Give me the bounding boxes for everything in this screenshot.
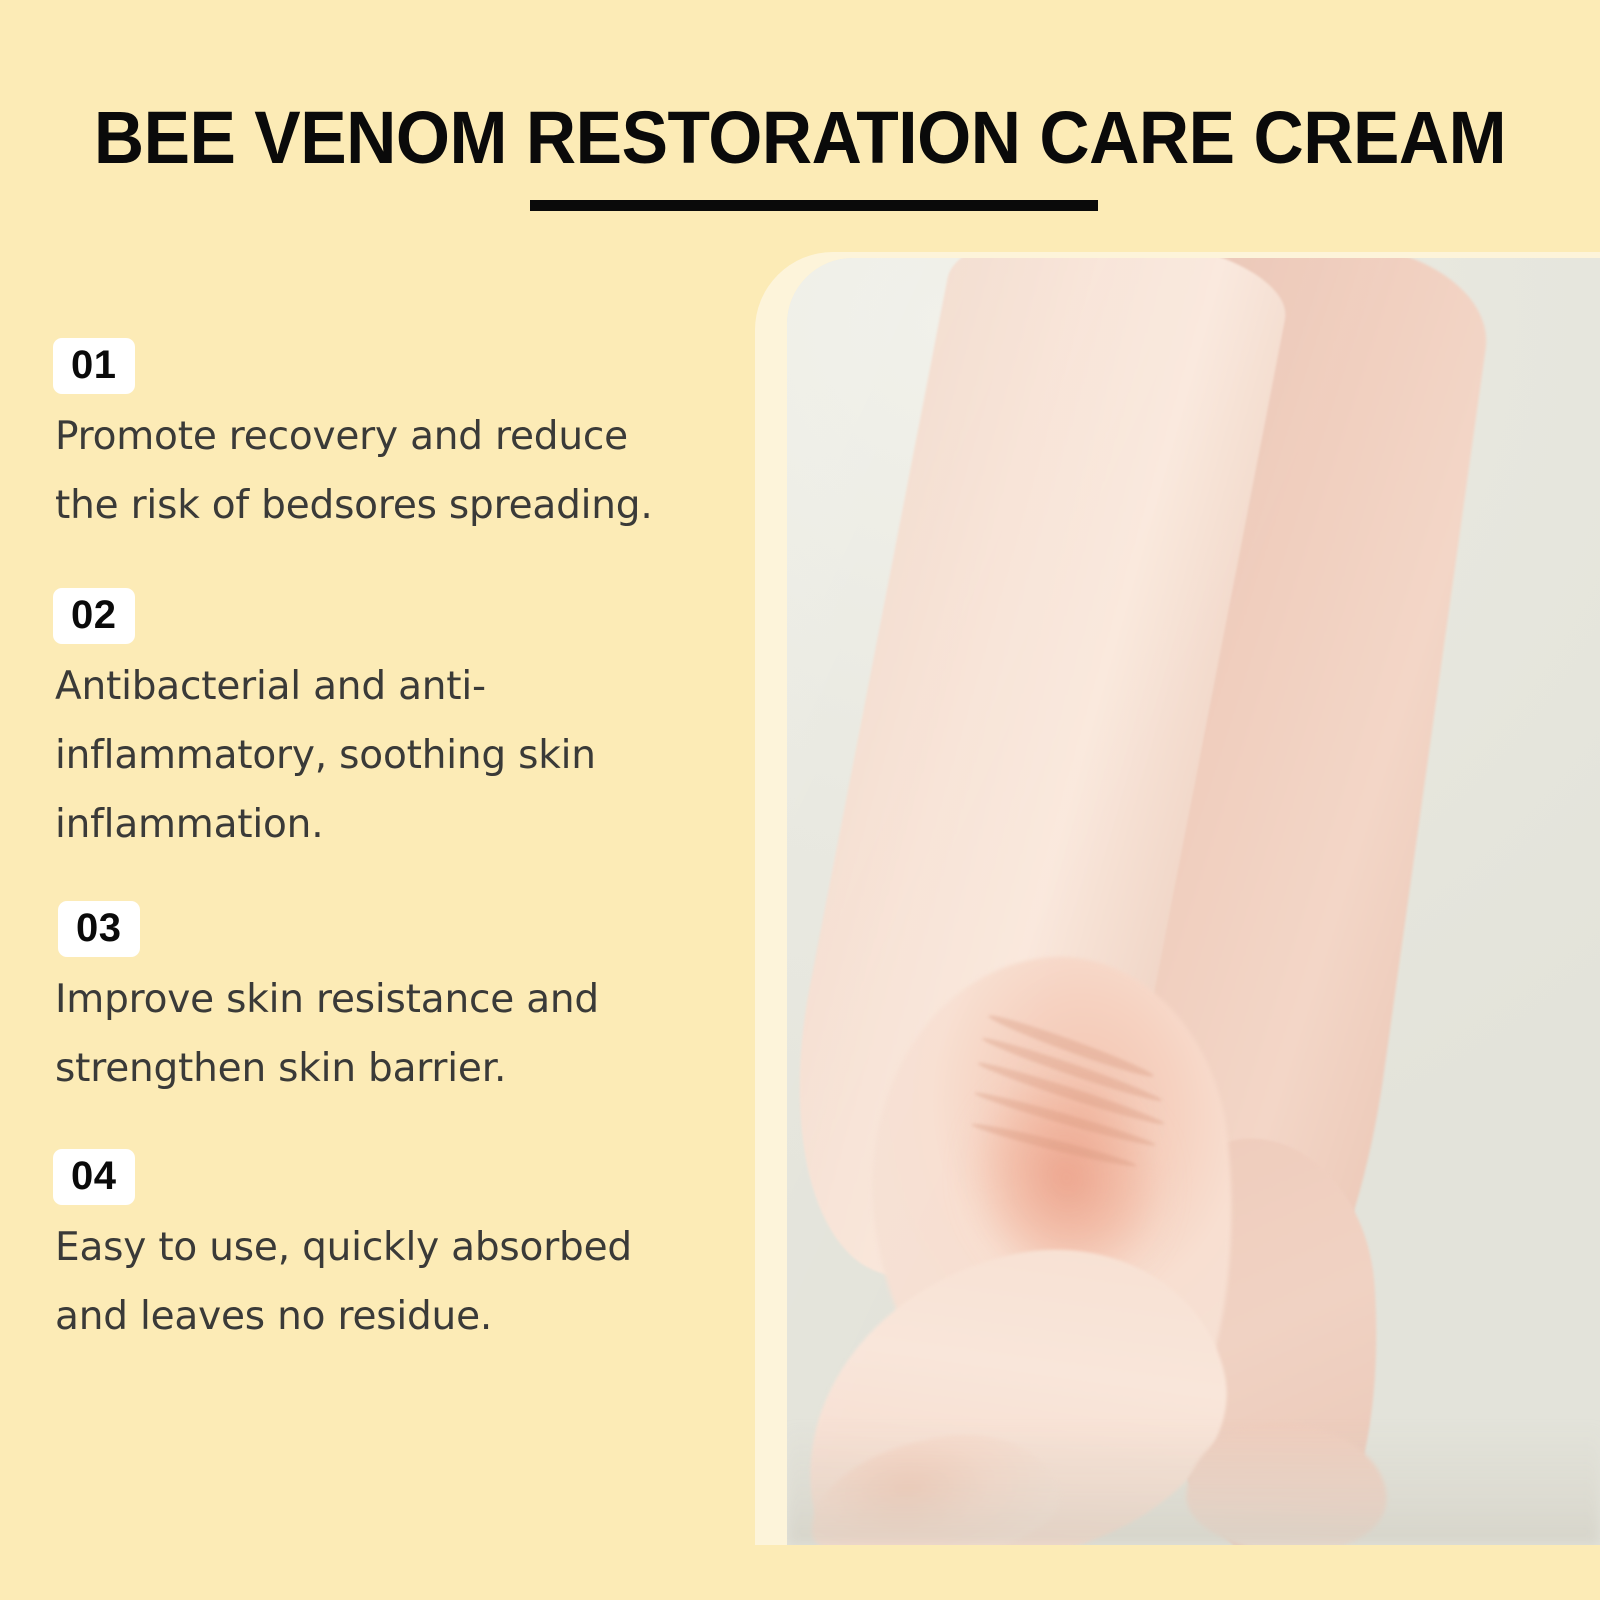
- feature-text: Improve skin resistance and strengthen s…: [55, 965, 695, 1103]
- feature-item-04: 04 Easy to use, quickly absorbed and lea…: [53, 1149, 713, 1351]
- feature-number-badge: 04: [53, 1149, 135, 1205]
- feature-list: 01 Promote recovery and reduce the risk …: [53, 338, 713, 1351]
- feature-item-01: 01 Promote recovery and reduce the risk …: [53, 338, 713, 540]
- feature-text: Promote recovery and reduce the risk of …: [55, 402, 695, 540]
- floor-shadow: [787, 1425, 1600, 1545]
- feature-number-badge: 01: [53, 338, 135, 394]
- product-feature-poster: BEE VENOM RESTORATION CARE CREAM 01 Prom…: [0, 0, 1600, 1600]
- feature-text: Easy to use, quickly absorbed and leaves…: [55, 1213, 695, 1351]
- feature-number-badge: 03: [58, 901, 140, 957]
- feature-text: Antibacterial and anti-inflammatory, soo…: [55, 652, 695, 859]
- title-block: BEE VENOM RESTORATION CARE CREAM: [0, 96, 1600, 180]
- feature-item-03: 03 Improve skin resistance and strengthe…: [53, 901, 713, 1103]
- page-title: BEE VENOM RESTORATION CARE CREAM: [48, 96, 1552, 180]
- title-underline-rule: [530, 200, 1098, 211]
- feature-number-badge: 02: [53, 588, 135, 644]
- feature-item-02: 02 Antibacterial and anti-inflammatory, …: [53, 588, 713, 859]
- photo-panel-frame: [755, 252, 1600, 1545]
- product-photo: [787, 258, 1600, 1545]
